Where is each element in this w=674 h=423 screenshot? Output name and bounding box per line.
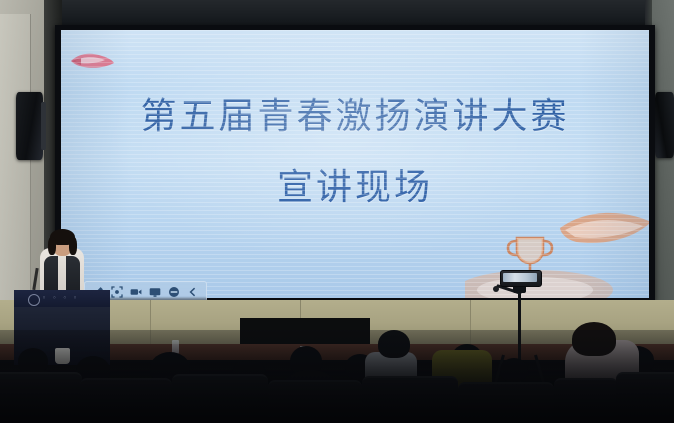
podium-lettering: ◦ ◦ ◦ ◦ [42,294,79,302]
spotlight-icon[interactable] [111,286,123,298]
presenter-hair-left [48,237,56,255]
seat-back [0,372,82,423]
phone-screen [503,273,537,282]
slide-title-line2: 宣讲现场 [61,158,649,210]
attendee-light-top-head [572,322,616,356]
slide-title-line1: 第五届青春激扬演讲大赛 [61,87,649,139]
more-circle-icon[interactable] [168,286,180,298]
projection-screen: 第五届青春激扬演讲大赛 宣讲现场 [61,30,649,298]
wall-speaker-left [16,92,43,160]
seat-back [554,378,618,423]
video-camera-icon[interactable] [130,286,142,298]
trophy-decoration-icon [465,198,649,298]
seat-back [268,380,362,423]
seat-back [172,374,268,423]
wall-speaker-right [655,92,674,158]
attendee-head [500,358,528,382]
ribbon-decoration-icon [69,50,115,72]
monitor-icon[interactable] [149,286,161,298]
university-emblem-icon [28,294,40,306]
seat-back [362,376,458,423]
tripod-handle-knob [493,286,499,292]
auditorium-photo: 第五届青春激扬演讲大赛 宣讲现场 [0,0,674,423]
presenter-hair-right [69,237,77,255]
attendee-glasses-head [378,330,410,358]
seat-back [458,382,554,423]
chevron-left-icon[interactable] [187,286,199,298]
seat-back [80,378,172,423]
seat-back [616,372,674,423]
